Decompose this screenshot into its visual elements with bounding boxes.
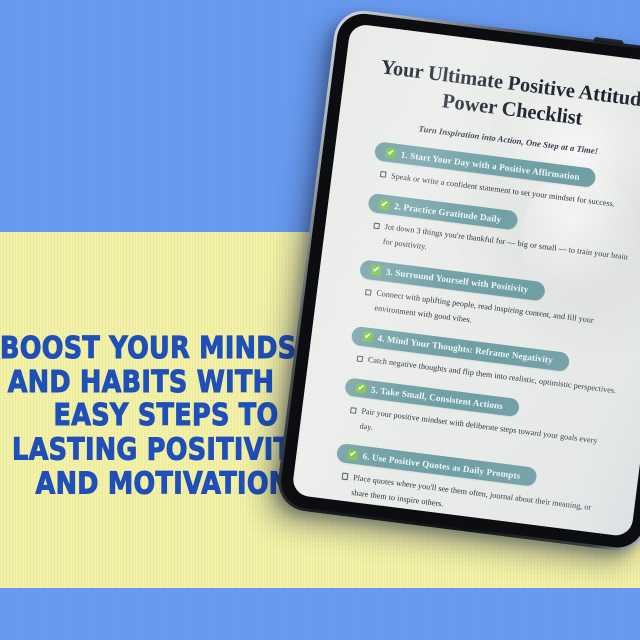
check-icon: ✔	[379, 199, 390, 210]
checkbox-icon[interactable]	[342, 473, 349, 480]
headline-line-2: and Habits With	[0, 366, 310, 400]
tablet-bezel: Your Ultimate Positive Attitude Power Ch…	[278, 11, 640, 551]
checkbox-icon[interactable]	[357, 355, 364, 362]
checklist-items: ✔ 1. Start Your Day with a Positive Affi…	[317, 138, 640, 533]
check-icon: ✔	[370, 265, 381, 276]
headline-line-5: and Motivation	[0, 467, 310, 501]
poster-canvas: Boost Your Mindset and Habits With Easy …	[0, 0, 640, 640]
check-icon: ✔	[347, 449, 358, 460]
tablet-device: Your Ultimate Positive Attitude Power Ch…	[275, 7, 640, 554]
check-icon: ✔	[362, 331, 373, 342]
checkbox-icon[interactable]	[350, 407, 357, 414]
checkbox-icon[interactable]	[373, 223, 380, 230]
headline-line-3: Easy Steps to	[0, 400, 310, 434]
headline-line-1: Boost Your Mindset	[0, 332, 310, 366]
checklist-item-heading: 2. Practice Gratitude Daily	[394, 201, 502, 224]
tablet-screen[interactable]: Your Ultimate Positive Attitude Power Ch…	[291, 23, 640, 537]
check-icon: ✔	[385, 147, 396, 158]
checkbox-icon[interactable]	[380, 171, 387, 178]
headline-line-4: Lasting Positivity	[0, 434, 310, 468]
check-icon: ✔	[356, 383, 367, 394]
headline-text: Boost Your Mindset and Habits With Easy …	[0, 332, 310, 501]
checklist-document: Your Ultimate Positive Attitude Power Ch…	[292, 23, 640, 536]
checkbox-icon[interactable]	[365, 289, 372, 296]
